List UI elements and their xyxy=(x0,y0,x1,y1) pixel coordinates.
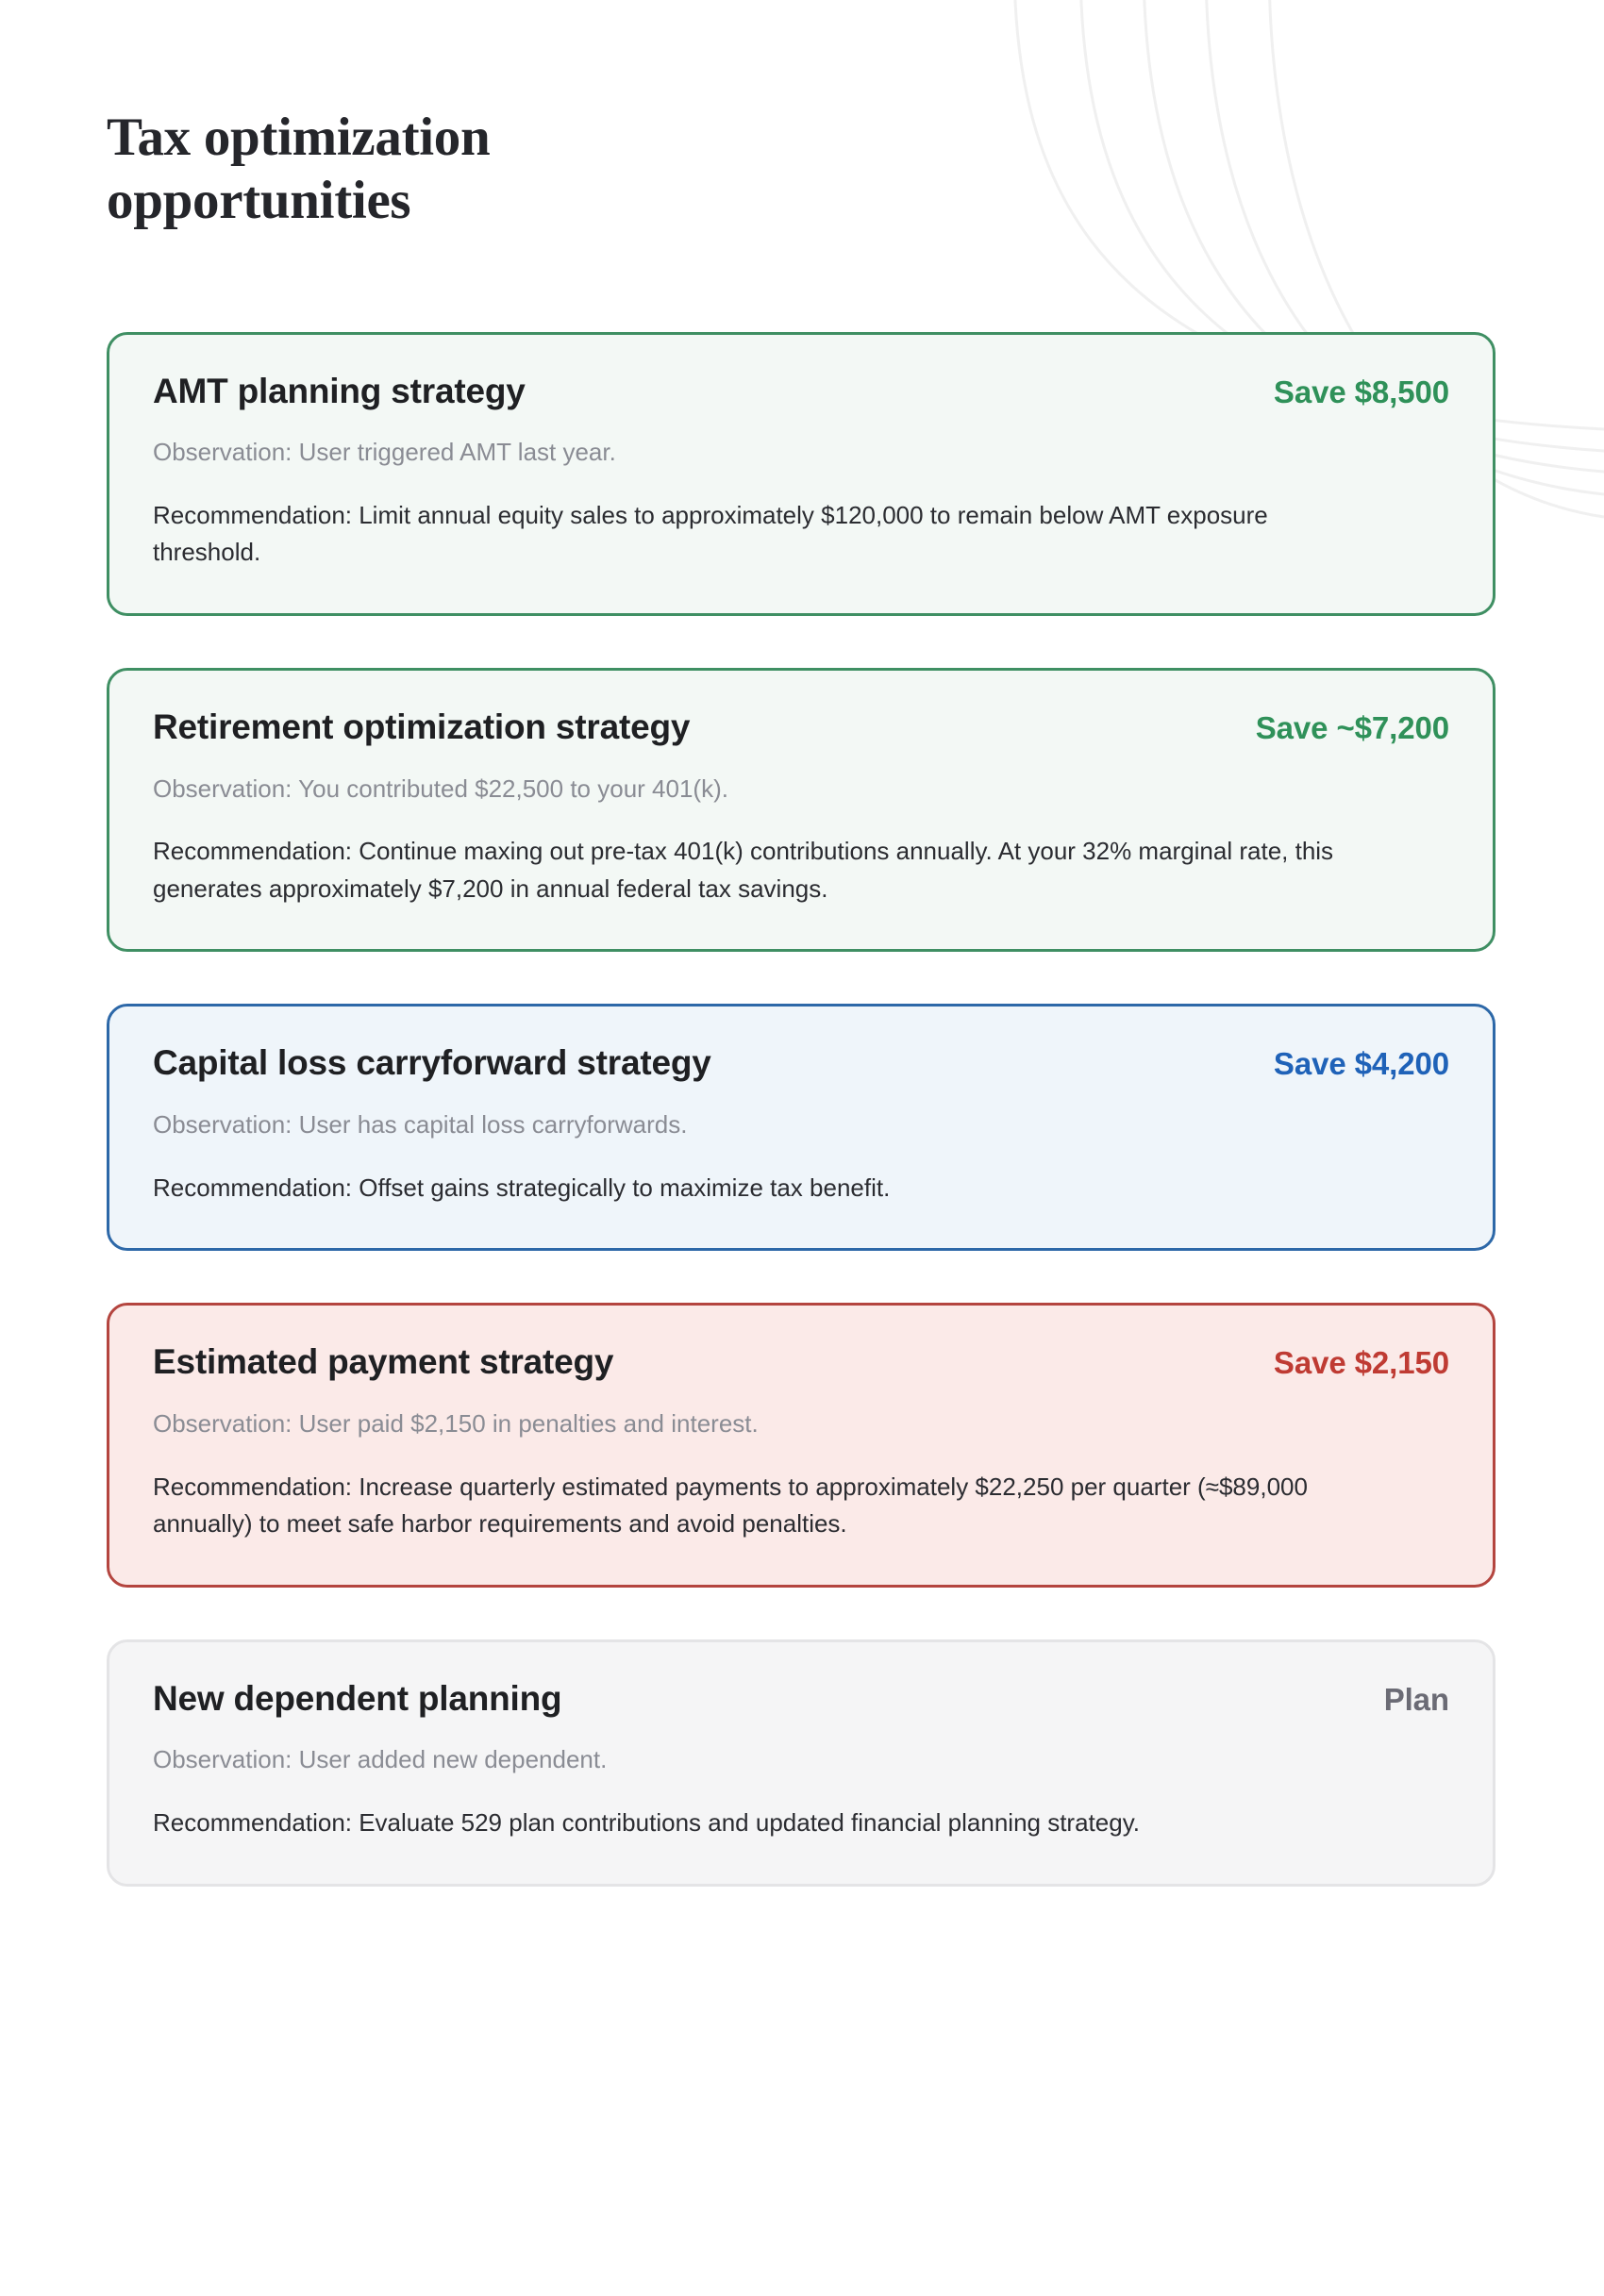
opportunity-card-retirement-optimization-strategy[interactable]: Retirement optimization strategy Save ~$… xyxy=(107,668,1495,952)
card-title: New dependent planning xyxy=(153,1680,561,1719)
opportunity-card-estimated-payment-strategy[interactable]: Estimated payment strategy Save $2,150 O… xyxy=(107,1303,1495,1587)
savings-badge: Plan xyxy=(1384,1682,1449,1718)
card-title: AMT planning strategy xyxy=(153,373,526,411)
card-title: Capital loss carryforward strategy xyxy=(153,1044,711,1083)
savings-badge: Save ~$7,200 xyxy=(1256,710,1449,746)
card-observation: Observation: User triggered AMT last yea… xyxy=(153,435,1449,471)
page-root: Tax optimization opportunities AMT plann… xyxy=(0,0,1604,1887)
card-recommendation: Recommendation: Continue maxing out pre-… xyxy=(153,833,1379,907)
opportunity-card-amt-planning-strategy[interactable]: AMT planning strategy Save $8,500 Observ… xyxy=(107,332,1495,616)
card-observation: Observation: User added new dependent. xyxy=(153,1742,1449,1778)
card-header: AMT planning strategy Save $8,500 xyxy=(153,373,1449,411)
card-title: Retirement optimization strategy xyxy=(153,708,690,747)
opportunity-card-list: AMT planning strategy Save $8,500 Observ… xyxy=(107,332,1495,1887)
savings-badge: Save $8,500 xyxy=(1274,374,1449,410)
card-header: New dependent planning Plan xyxy=(153,1680,1449,1719)
card-header: Capital loss carryforward strategy Save … xyxy=(153,1044,1449,1083)
opportunity-card-new-dependent-planning[interactable]: New dependent planning Plan Observation:… xyxy=(107,1639,1495,1887)
card-recommendation: Recommendation: Evaluate 529 plan contri… xyxy=(153,1805,1379,1842)
opportunity-card-capital-loss-carryforward-strategy[interactable]: Capital loss carryforward strategy Save … xyxy=(107,1004,1495,1251)
savings-badge: Save $4,200 xyxy=(1274,1046,1449,1082)
card-recommendation: Recommendation: Offset gains strategical… xyxy=(153,1170,1379,1207)
card-recommendation: Recommendation: Limit annual equity sale… xyxy=(153,497,1379,572)
card-title: Estimated payment strategy xyxy=(153,1343,613,1382)
card-observation: Observation: User paid $2,150 in penalti… xyxy=(153,1406,1449,1442)
card-header: Estimated payment strategy Save $2,150 xyxy=(153,1343,1449,1382)
card-observation: Observation: User has capital loss carry… xyxy=(153,1107,1449,1143)
card-recommendation: Recommendation: Increase quarterly estim… xyxy=(153,1469,1379,1543)
page-title: Tax optimization opportunities xyxy=(107,0,692,233)
card-observation: Observation: You contributed $22,500 to … xyxy=(153,772,1449,807)
card-header: Retirement optimization strategy Save ~$… xyxy=(153,708,1449,747)
savings-badge: Save $2,150 xyxy=(1274,1345,1449,1381)
